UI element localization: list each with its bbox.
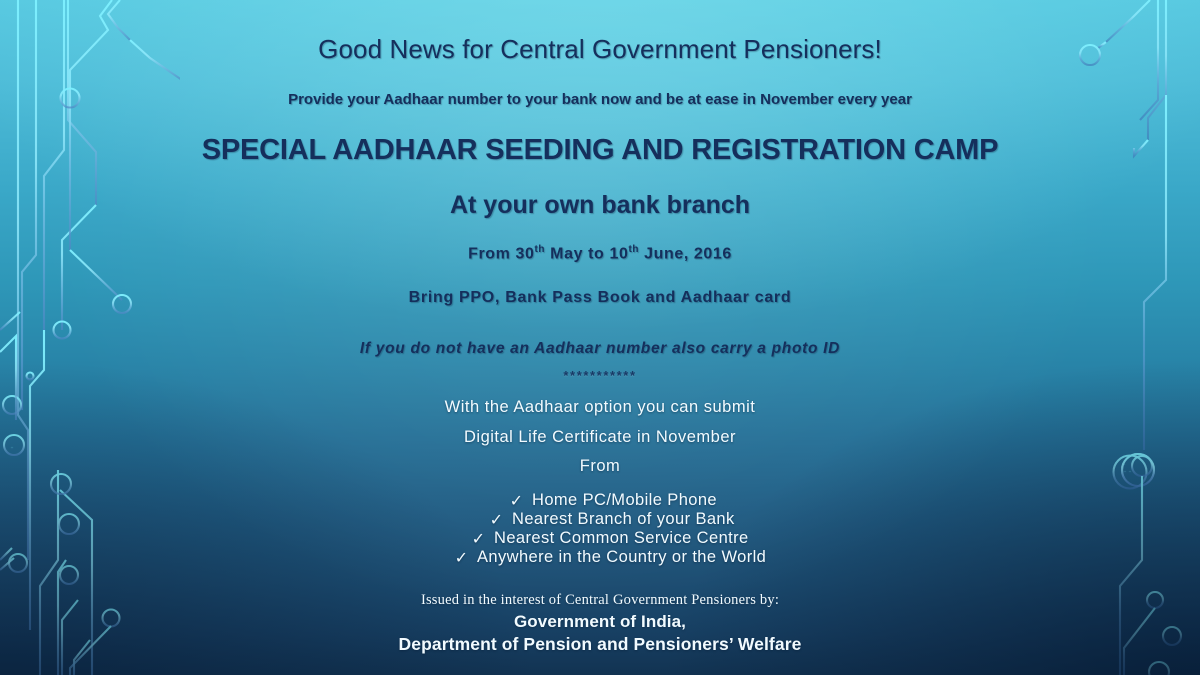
poster-content: Good News for Central Government Pension… [0, 0, 1200, 675]
date-range: From 30th May to 10th June, 2016 [0, 244, 1200, 263]
check-icon: ✓ [470, 529, 487, 549]
venue-text: At your own bank branch [0, 191, 1200, 220]
end-day: 10 [609, 245, 628, 262]
submit-line-1: With the Aadhaar option you can submit [0, 398, 1200, 417]
start-ordinal: th [535, 244, 546, 255]
list-item-label: Anywhere in the Country or the World [470, 548, 766, 567]
page-title: Good News for Central Government Pension… [0, 34, 1200, 65]
list-item: ✓ Home PC/Mobile Phone [0, 491, 1200, 510]
list-item: ✓ Nearest Common Service Centre [0, 529, 1200, 548]
submit-line-2: Digital Life Certificate in November [0, 428, 1200, 447]
submit-line-3: From [0, 457, 1200, 476]
subtitle-text: Provide your Aadhaar number to your bank… [0, 91, 1200, 108]
list-item-label: Home PC/Mobile Phone [525, 491, 717, 510]
list-item: ✓ Anywhere in the Country or the World [0, 548, 1200, 567]
end-ordinal: th [628, 244, 639, 255]
documents-required-text: Bring PPO, Bank Pass Book and Aadhaar ca… [0, 289, 1200, 307]
date-middle: May to [545, 245, 609, 262]
issued-by-text: Issued in the interest of Central Govern… [0, 592, 1200, 609]
list-item: ✓ Nearest Branch of your Bank [0, 510, 1200, 529]
check-icon: ✓ [508, 491, 525, 511]
department-name: Department of Pension and Pensioners’ We… [0, 634, 1200, 655]
footer: Issued in the interest of Central Govern… [0, 592, 1200, 655]
check-icon: ✓ [488, 510, 505, 530]
government-name: Government of India, [0, 612, 1200, 632]
channel-list: ✓ Home PC/Mobile Phone ✓ Nearest Branch … [0, 491, 1200, 567]
date-prefix: From [468, 245, 515, 262]
date-suffix: June, 2016 [639, 245, 732, 262]
list-item-label: Nearest Common Service Centre [487, 529, 749, 548]
list-item-label: Nearest Branch of your Bank [505, 510, 735, 529]
photo-id-note: If you do not have an Aadhaar number als… [0, 340, 1200, 358]
start-day: 30 [516, 245, 535, 262]
poster-canvas: Good News for Central Government Pension… [0, 0, 1200, 675]
separator-asterisks: *********** [0, 368, 1200, 383]
check-icon: ✓ [453, 548, 470, 568]
camp-title: SPECIAL AADHAAR SEEDING AND REGISTRATION… [0, 134, 1200, 167]
